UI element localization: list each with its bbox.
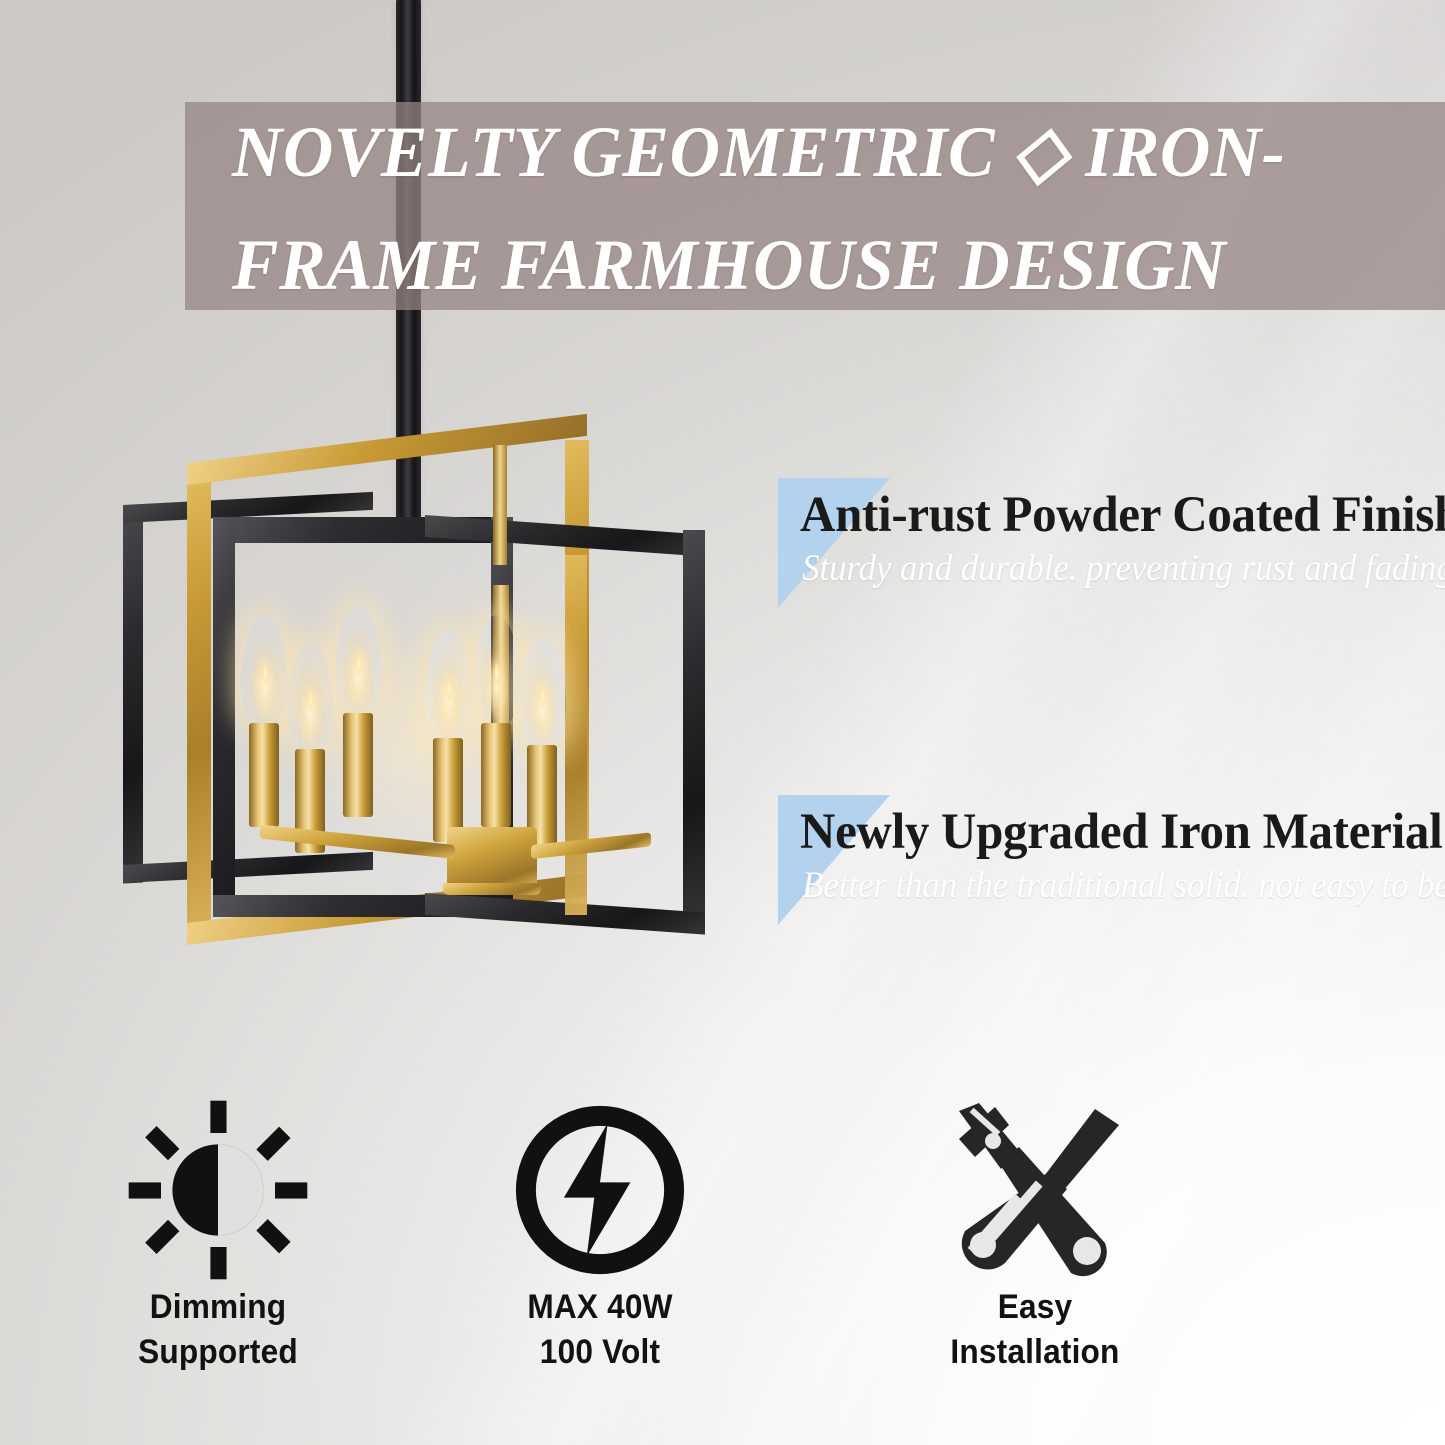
frame-black-main-left	[213, 517, 235, 917]
spec-item-installation: Easy Installation	[865, 1095, 1205, 1375]
frame-black-back-left	[123, 504, 143, 883]
product-image	[95, 455, 735, 1035]
bulb-socket-1	[249, 723, 279, 827]
feature-block-1: Anti-rust Powder Coated Finish Sturdy an…	[778, 478, 1438, 608]
feature-2-subtitle: Better than the traditional solid. not e…	[802, 863, 1445, 909]
hub-base	[443, 883, 541, 895]
center-stem	[493, 445, 507, 565]
frame-gold-left	[187, 473, 211, 933]
frame-black-front-right-side	[683, 530, 705, 920]
feature-2-title: Newly Upgraded Iron Material	[800, 803, 1442, 861]
pliers-screwdriver-icon	[935, 1095, 1135, 1285]
spec-label-dimming: Dimming Supported	[60, 1285, 376, 1375]
frame-gold-rear-right	[565, 555, 587, 915]
bulb-socket-5	[481, 723, 511, 827]
brightness-dimmer-icon	[123, 1095, 313, 1285]
feature-1-subtitle: Sturdy and durable. preventing rust and …	[802, 546, 1445, 592]
bulb-socket-3	[343, 713, 373, 817]
center-hub	[447, 827, 537, 889]
product-infographic: Anti-rust Powder Coated Finish Sturdy an…	[0, 0, 1445, 1445]
feature-1-title: Anti-rust Powder Coated Finish	[800, 486, 1445, 544]
spec-label-installation: Easy Installation	[877, 1285, 1193, 1375]
spec-label-wattage: MAX 40W 100 Volt	[442, 1285, 758, 1375]
feature-block-2: Newly Upgraded Iron Material Better than…	[778, 795, 1438, 925]
spec-row: Dimming Supported MAX 40W 100 Volt	[0, 1095, 1445, 1445]
spec-item-wattage: MAX 40W 100 Volt	[430, 1095, 770, 1375]
lightning-bolt-circle-icon	[505, 1095, 695, 1285]
page-title: NOVELTY GEOMETRIC ◇ IRON- FRAME FARMHOUS…	[232, 96, 1411, 322]
frame-gold-top	[187, 414, 587, 485]
spec-item-dimming: Dimming Supported	[48, 1095, 388, 1375]
